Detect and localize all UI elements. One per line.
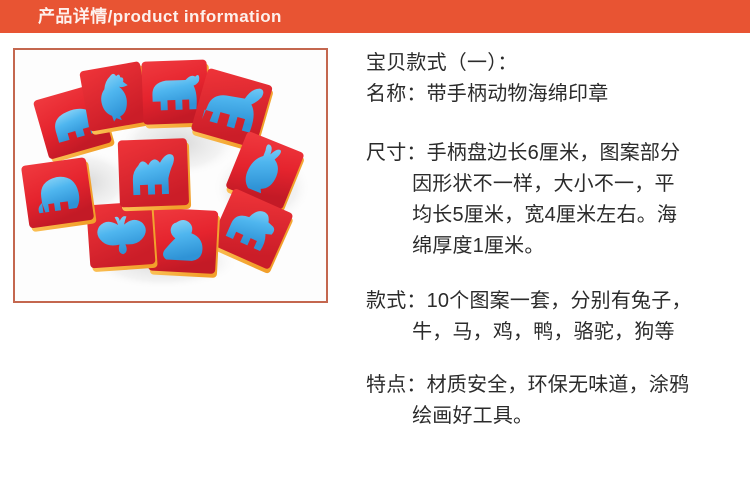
stamp-duck	[148, 207, 221, 277]
spec-size: 尺寸：手柄盘边长6厘米，图案部分 因形状不一样，大小不一，平 均长5厘米，宽4厘…	[366, 138, 744, 262]
stamp-camel	[118, 138, 192, 211]
page-header-bar: 产品详情/product information	[0, 0, 750, 33]
product-spec-column: 宝贝款式（一）： 名称：带手柄动物海绵印章 尺寸：手柄盘边长6厘米，图案部分 因…	[366, 48, 744, 432]
spec-features: 特点：材质安全，环保无味道，涂鸦 绘画好工具。	[366, 370, 744, 432]
spacer-after-size	[366, 262, 744, 286]
spec-product-name: 名称：带手柄动物海绵印章	[366, 79, 744, 110]
stamp-butterfly	[86, 201, 158, 272]
spacer-after-name	[366, 110, 744, 138]
spacer-after-pattern	[366, 348, 744, 370]
stamp-rooster	[79, 61, 153, 136]
animal-sponge-stamps-photo	[15, 50, 326, 301]
product-photo-frame	[13, 48, 328, 303]
spec-pattern: 款式：10个图案一套，分别有兔子， 牛，马，鸡，鸭，骆驼，狗等	[366, 286, 744, 348]
spec-style-heading: 宝贝款式（一）：	[366, 48, 744, 79]
page-title: 产品详情/product information	[38, 0, 282, 33]
stamp-elephant	[21, 157, 97, 233]
